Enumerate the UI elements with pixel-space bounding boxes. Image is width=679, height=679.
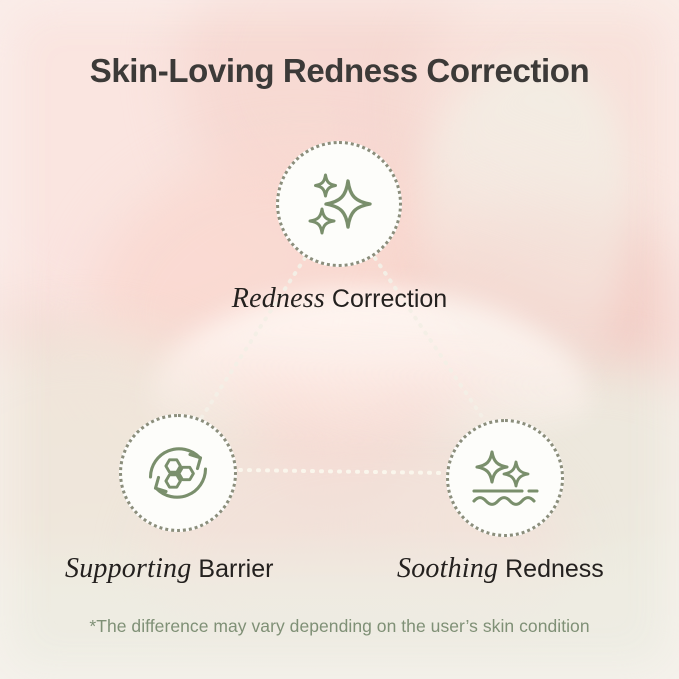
benefit-badge-soothing-redness[interactable] [446, 419, 564, 537]
benefit-label-emphasis: Redness [232, 283, 325, 314]
sparkles-icon [300, 165, 378, 243]
honeycomb-cycle-icon [141, 436, 215, 510]
disclaimer-text: *The difference may vary depending on th… [0, 616, 679, 637]
benefit-label-supporting-barrier: Supporting Barrier [65, 553, 273, 585]
benefit-label-emphasis: Soothing [397, 553, 498, 584]
benefit-label-plain: Redness [505, 555, 604, 583]
benefit-label-plain: Barrier [198, 555, 273, 583]
benefit-label-plain: Correction [332, 285, 447, 313]
benefit-badge-supporting-barrier[interactable] [119, 414, 237, 532]
smooth-skin-sparkle-icon [468, 445, 542, 511]
infographic-poster: Skin-Loving Redness Correction [0, 0, 679, 679]
benefit-badge-redness-correction[interactable] [276, 141, 402, 267]
benefit-label-soothing-redness: Soothing Redness [397, 553, 604, 585]
benefit-label-emphasis: Supporting [65, 553, 191, 584]
benefit-label-redness-correction: Redness Correction [232, 283, 447, 315]
connector-left-to-right [240, 470, 444, 473]
